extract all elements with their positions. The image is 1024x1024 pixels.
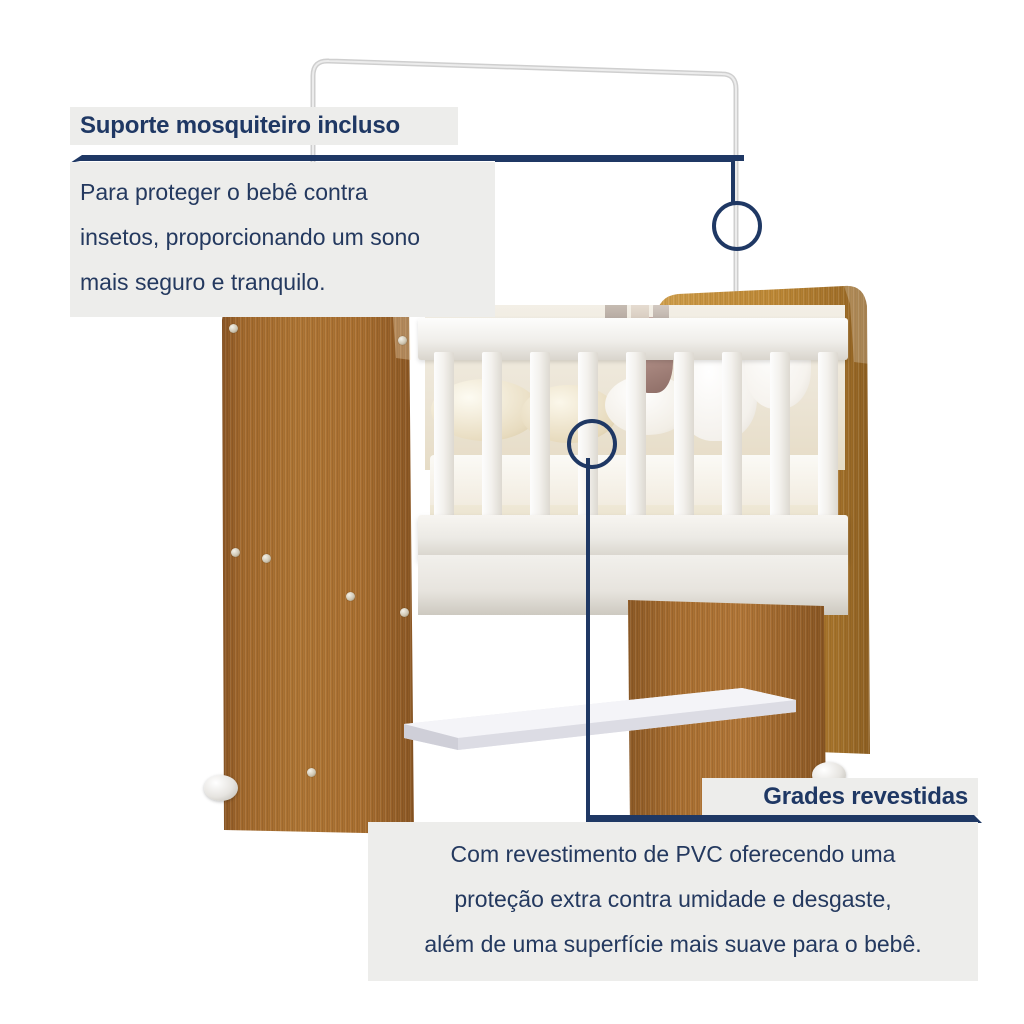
callout-line: Com revestimento de PVC oferecendo uma [380,832,966,877]
callout-mosquito-net-title: Suporte mosquiteiro incluso [70,107,458,145]
callout-mosquito-net-body: Para proteger o bebê contra insetos, pro… [70,162,495,317]
callout-line: proteção extra contra umidade e desgaste… [380,877,966,922]
callout-line: Para proteger o bebê contra [80,170,485,215]
callout-coated-rails-body: Com revestimento de PVC oferecendo uma p… [368,822,978,981]
rail-marker-ring [567,419,617,469]
infographic-canvas: Suporte mosquiteiro incluso Para protege… [0,0,1024,1024]
callout-line: insetos, proporcionando um sono [80,215,485,260]
callout-coated-rails-title: Grades revestidas [702,778,978,816]
callout-line: além de uma superfície mais suave para o… [380,922,966,967]
mosquito-net-marker-ring [712,201,762,251]
callout-line: mais seguro e tranquilo. [80,260,485,305]
